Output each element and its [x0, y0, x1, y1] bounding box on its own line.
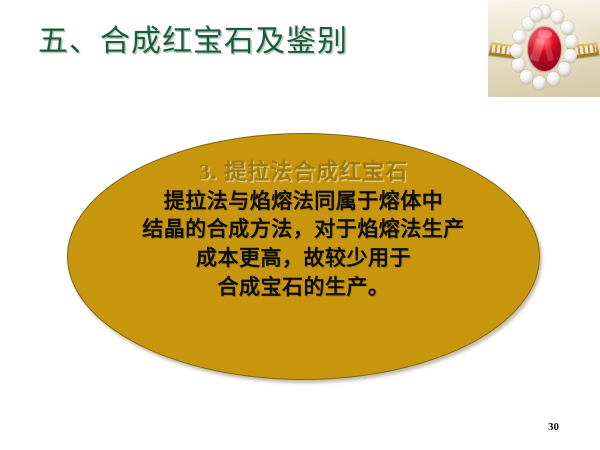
- diamond-stone: [558, 62, 571, 76]
- body-text-line: 合成宝石的生产。: [68, 273, 539, 302]
- body-text-line: 提拉法与焰熔法同属于熔体中: [68, 187, 539, 216]
- diamond-stone: [510, 44, 523, 58]
- diamond-stone: [513, 30, 526, 44]
- ellipse-text-block: 3. 提拉法合成红宝石 提拉法与焰熔法同属于熔体中 结晶的合成方法，对于焰熔法生…: [68, 158, 539, 302]
- slide-title: 五、合成红宝石及鉴别: [38, 16, 348, 60]
- presentation-slide: 五、合成红宝石及鉴别: [0, 0, 600, 450]
- ruby-ring-photo: [488, 0, 600, 97]
- diamond-stone: [530, 8, 543, 22]
- diamond-stone: [565, 35, 578, 49]
- content-ellipse-shape: 3. 提拉法合成红宝石 提拉法与焰熔法同属于熔体中 结晶的合成方法，对于焰熔法生…: [67, 133, 540, 380]
- diamond-stone: [564, 49, 577, 63]
- body-text-line: 结晶的合成方法，对于焰熔法生产: [68, 215, 539, 244]
- diamond-stone: [520, 70, 533, 84]
- diamond-stone: [512, 58, 525, 72]
- body-text-line: 成本更高，故较少用于: [68, 244, 539, 273]
- ruby-facet: [538, 29, 553, 38]
- page-number: 30: [548, 421, 559, 433]
- diamond-stone: [533, 76, 546, 90]
- ruby-gemstone: [528, 27, 561, 71]
- diamond-stone: [561, 21, 574, 35]
- diamond-stone: [551, 10, 564, 24]
- diamond-stone: [547, 72, 560, 86]
- section-heading: 3. 提拉法合成红宝石: [68, 158, 539, 186]
